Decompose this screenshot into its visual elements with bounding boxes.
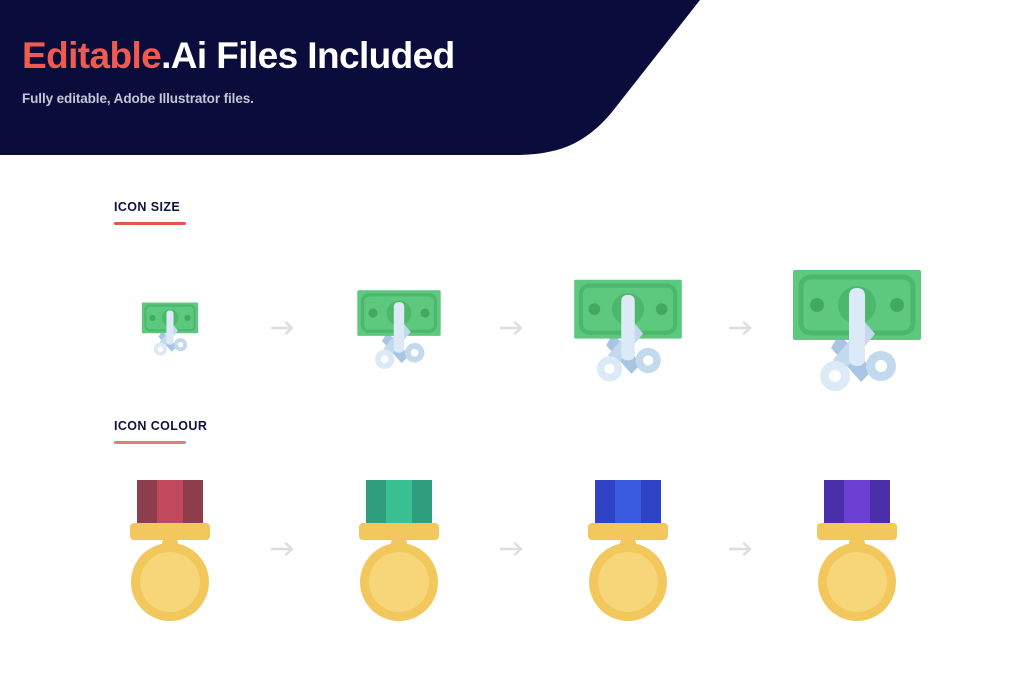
medal-ribbon <box>137 480 203 523</box>
arrow-right-icon <box>271 541 297 557</box>
money-scissors-icon <box>353 285 445 371</box>
money-scissors-icon-size-4[interactable] <box>769 263 944 393</box>
money-scissors-icon-size-3[interactable] <box>540 263 715 393</box>
section-rule-icon-size <box>114 222 186 225</box>
medal-icon <box>353 477 445 622</box>
medal-icon-red[interactable] <box>82 467 257 632</box>
arrow-right-icon-4 <box>257 541 311 557</box>
medal-icon-purple[interactable] <box>769 467 944 632</box>
arrow-right-icon-1 <box>257 320 311 336</box>
medal-ribbon <box>366 480 432 523</box>
medal-disc-inner <box>140 552 200 612</box>
medal-icon-green[interactable] <box>311 467 486 632</box>
arrow-right-icon <box>500 541 526 557</box>
arrow-right-icon <box>500 320 526 336</box>
medal-bar <box>359 523 439 540</box>
medal-bar <box>588 523 668 540</box>
medal-bar <box>817 523 897 540</box>
page-title: Editable.Ai Files Included <box>22 36 582 77</box>
medal-disc-inner <box>369 552 429 612</box>
section-rule-icon-colour <box>114 441 186 444</box>
arrow-right-icon <box>729 320 755 336</box>
medal-disc-inner <box>598 552 658 612</box>
medal-icon <box>124 477 216 622</box>
page-subtitle: Fully editable, Adobe Illustrator files. <box>22 91 582 106</box>
icon-size-row <box>0 248 1024 408</box>
medal-disc-inner <box>827 552 887 612</box>
medal-icon <box>811 477 903 622</box>
arrow-right-icon-2 <box>486 320 540 336</box>
money-scissors-icon-size-1[interactable] <box>82 263 257 393</box>
page-title-rest: .Ai Files Included <box>161 35 454 76</box>
arrow-right-icon-6 <box>715 541 769 557</box>
money-scissors-icon <box>139 299 201 357</box>
section-heading-icon-colour: ICON COLOUR <box>114 419 207 433</box>
medal-icon-blue[interactable] <box>540 467 715 632</box>
section-heading-icon-size: ICON SIZE <box>114 200 180 214</box>
arrow-right-icon-3 <box>715 320 769 336</box>
medal-icon <box>582 477 674 622</box>
money-scissors-icon-size-2[interactable] <box>311 263 486 393</box>
medal-ribbon <box>824 480 890 523</box>
money-scissors-icon <box>787 262 927 394</box>
money-scissors-icon <box>569 273 687 384</box>
header-banner: Editable.Ai Files Included Fully editabl… <box>0 0 700 158</box>
header-text-block: Editable.Ai Files Included Fully editabl… <box>22 36 582 106</box>
arrow-right-icon <box>271 320 297 336</box>
page-title-accent: Editable <box>22 35 161 76</box>
medal-bar <box>130 523 210 540</box>
arrow-right-icon <box>729 541 755 557</box>
arrow-right-icon-5 <box>486 541 540 557</box>
icon-colour-row <box>0 459 1024 639</box>
medal-ribbon <box>595 480 661 523</box>
